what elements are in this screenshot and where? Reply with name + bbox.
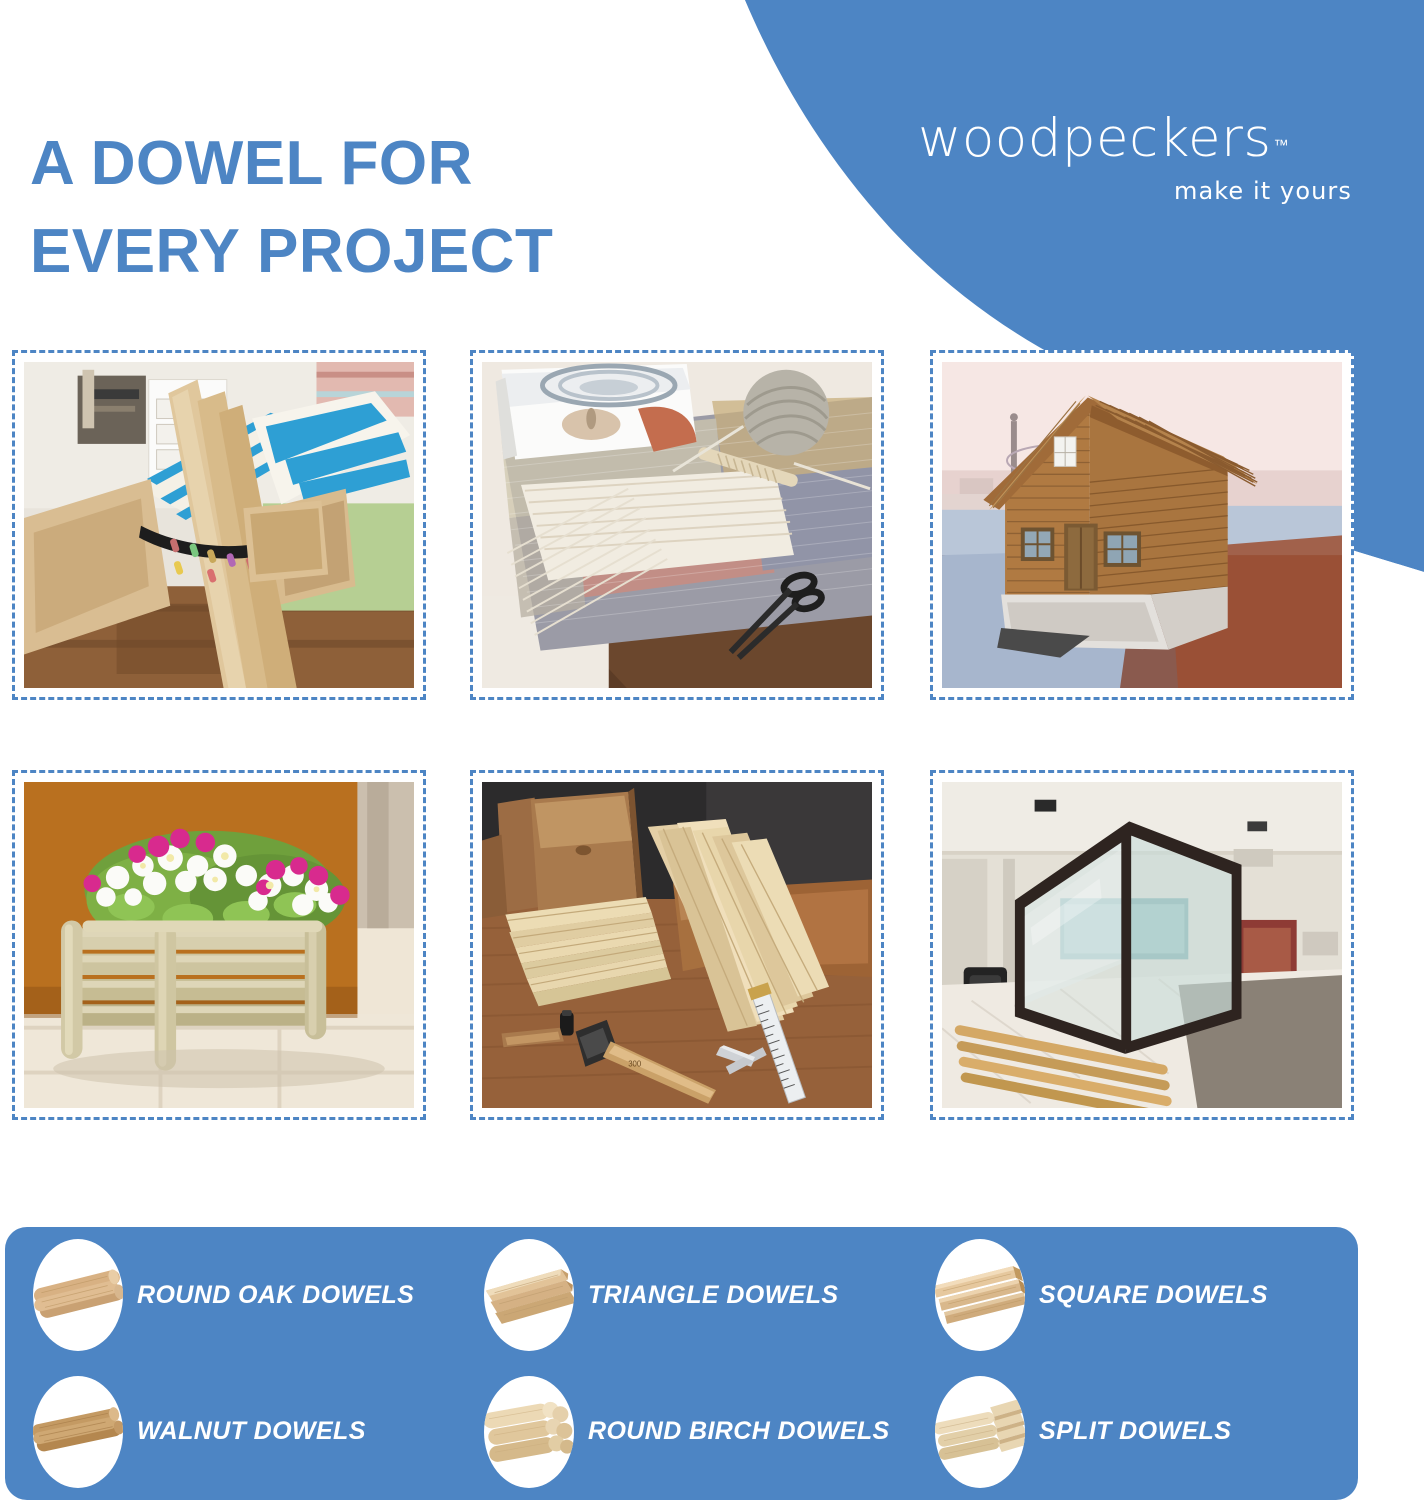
photo-frame-glass-cube <box>930 770 1354 1120</box>
legend-item-walnut-dowels[interactable]: WALNUT DOWELS <box>5 1376 456 1488</box>
legend-label: WALNUT DOWELS <box>137 1417 366 1446</box>
photo-frame-weaving-loom <box>12 350 426 700</box>
photo-gallery: 300 <box>0 336 1424 1136</box>
dowel-types-panel: ROUND OAK DOWELS <box>5 1227 1358 1500</box>
photo-workshop-sticks: 300 <box>482 782 872 1108</box>
legend-label: SQUARE DOWELS <box>1039 1281 1268 1310</box>
headline-line-1: A DOWEL FOR <box>30 120 790 208</box>
split-dowels-icon <box>935 1376 1025 1488</box>
photo-frame-log-cabin <box>930 350 1354 700</box>
round-oak-dowels-icon <box>33 1239 123 1351</box>
photo-flower-planter <box>24 782 414 1108</box>
legend-item-square-dowels[interactable]: SQUARE DOWELS <box>907 1239 1358 1351</box>
svg-text:300: 300 <box>628 1060 642 1069</box>
photo-log-cabin <box>942 362 1342 688</box>
photo-woven-textile <box>482 362 872 688</box>
legend-item-round-oak-dowels[interactable]: ROUND OAK DOWELS <box>5 1239 456 1351</box>
walnut-dowels-icon <box>33 1376 123 1488</box>
brand-tagline: make it yours <box>918 177 1358 205</box>
headline-line-2: EVERY PROJECT <box>30 208 790 296</box>
photo-frame-workshop-sticks: 300 <box>470 770 884 1120</box>
legend-item-triangle-dowels[interactable]: TRIANGLE DOWELS <box>456 1239 907 1351</box>
photo-frame-woven-textile <box>470 350 884 700</box>
brand-logo-wordmark: woodpeckers <box>918 112 1272 165</box>
legend-label: TRIANGLE DOWELS <box>588 1281 838 1310</box>
brand-logo: woodpeckers™ make it yours <box>918 112 1358 205</box>
trademark-icon: ™ <box>1274 137 1289 154</box>
photo-weaving-loom <box>24 362 414 688</box>
dowel-types-list: ROUND OAK DOWELS <box>5 1227 1358 1500</box>
page-header: A DOWEL FOR EVERY PROJECT woodpeckers™ m… <box>0 0 1424 330</box>
legend-item-split-dowels[interactable]: SPLIT DOWELS <box>907 1376 1358 1488</box>
legend-item-round-birch-dowels[interactable]: ROUND BIRCH DOWELS <box>456 1376 907 1488</box>
round-birch-dowels-icon <box>484 1376 574 1488</box>
legend-label: ROUND OAK DOWELS <box>137 1281 414 1310</box>
triangle-dowels-icon <box>484 1239 574 1351</box>
page-title: A DOWEL FOR EVERY PROJECT <box>30 120 790 296</box>
legend-label: ROUND BIRCH DOWELS <box>588 1417 890 1446</box>
square-dowels-icon <box>935 1239 1025 1351</box>
photo-glass-cube <box>942 782 1342 1108</box>
legend-label: SPLIT DOWELS <box>1039 1417 1231 1446</box>
photo-frame-flower-planter <box>12 770 426 1120</box>
